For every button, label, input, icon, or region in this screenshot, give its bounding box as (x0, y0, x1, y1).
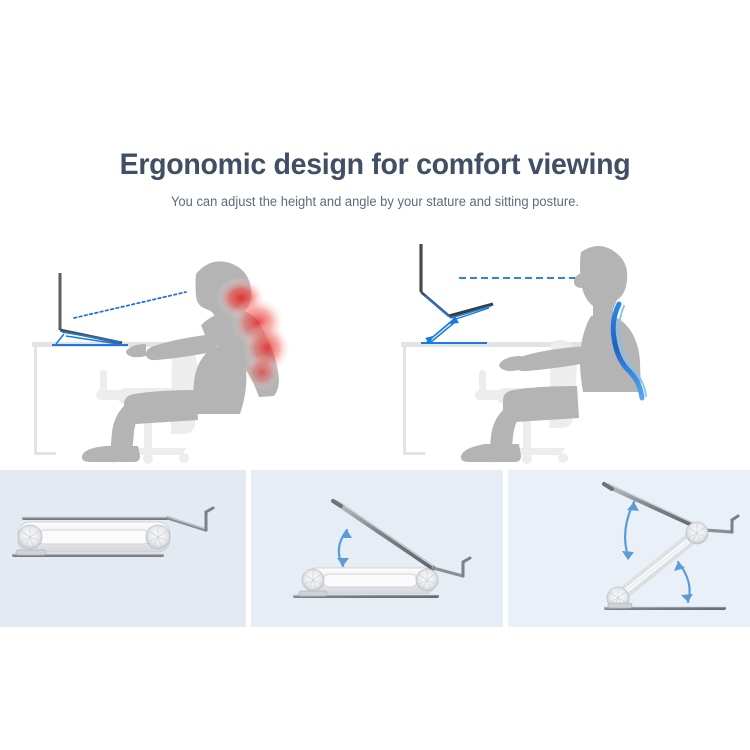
hinge-disc-top (686, 522, 708, 544)
header-section: Ergonomic design for comfort viewing You… (0, 0, 750, 230)
stand-body-plate (305, 568, 435, 594)
hinge-disc-right (416, 569, 438, 591)
adjust-height-arrow-lower (674, 562, 693, 602)
adjust-angle-arrow-upper (622, 502, 639, 560)
page-subtitle: You can adjust the height and angle by y… (15, 194, 735, 209)
support-bar-raised (333, 501, 470, 576)
page-title: Ergonomic design for comfort viewing (19, 148, 732, 182)
good-posture-illustration (375, 230, 750, 470)
stand-folded-flat-panel (0, 470, 246, 627)
laptop-rail-top (604, 484, 738, 532)
hinge-disc-left (302, 569, 324, 591)
base-bar (604, 603, 726, 610)
support-leg-diagonal (620, 536, 694, 596)
stand-fully-extended-panel (508, 470, 750, 627)
illustration-band (0, 230, 750, 470)
hinge-disc-left (18, 525, 42, 549)
adjust-angle-arrow (337, 530, 352, 566)
laptop-on-raised-stand (421, 244, 493, 344)
stand-partially-raised-panel (251, 470, 503, 627)
laptop-on-low-stand (52, 273, 128, 345)
hinge-disc-right (146, 525, 170, 549)
product-panel-strip (0, 470, 750, 627)
bad-posture-illustration (0, 230, 375, 470)
footer-whitespace (0, 627, 750, 750)
sight-line-dotted (74, 292, 186, 318)
